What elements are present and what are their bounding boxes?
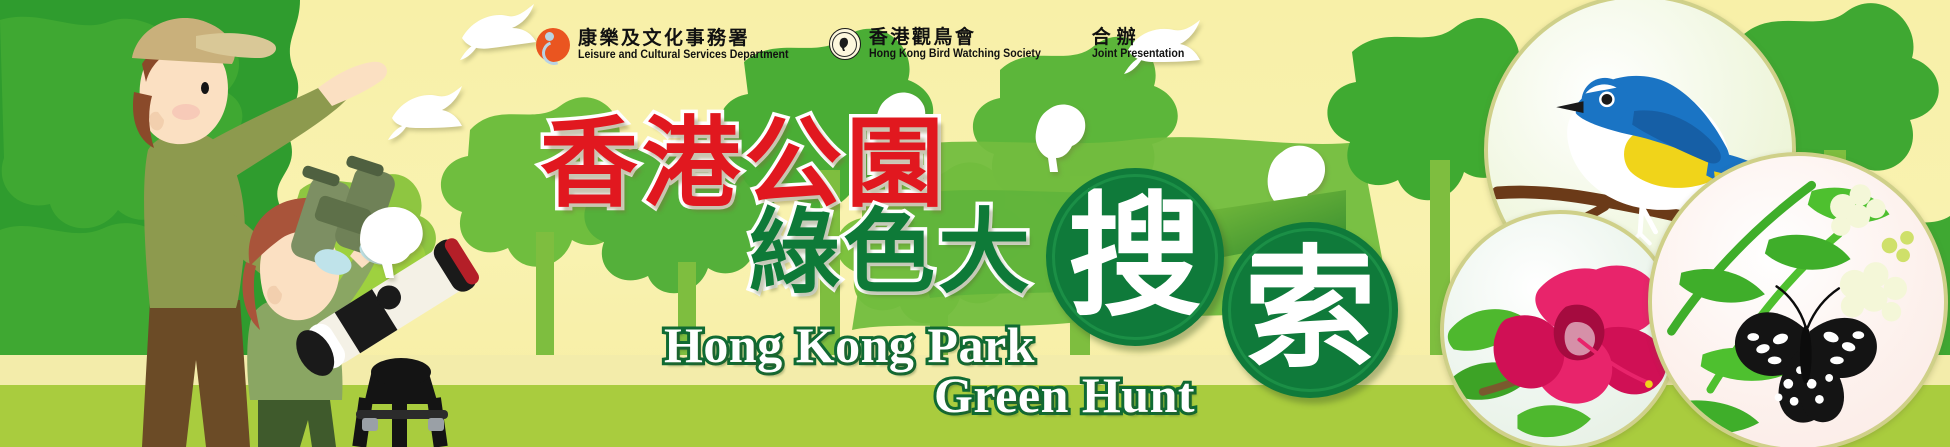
title-chinese-green: 綠色大 bbox=[748, 178, 1033, 311]
lcsd-logo-icon bbox=[536, 28, 570, 62]
white-bird-silhouette bbox=[386, 84, 464, 142]
white-bird-silhouette bbox=[1030, 96, 1092, 174]
hkbws-logo-icon bbox=[829, 28, 861, 60]
magnifier-lens-sou: 搜 bbox=[1046, 168, 1224, 346]
lcsd-logo: 康樂及文化事務署 Leisure and Cultural Services D… bbox=[536, 28, 807, 62]
joint-cn: 合辦 bbox=[1092, 28, 1192, 47]
hkbws-logo: 香港觀鳥會 Hong Kong Bird Watching Society bbox=[829, 28, 1056, 61]
title-english-line2: Green Hunt bbox=[934, 366, 1195, 424]
hkbws-name-en: Hong Kong Bird Watching Society bbox=[869, 49, 1041, 61]
organisation-logos: 康樂及文化事務署 Leisure and Cultural Services D… bbox=[536, 28, 1192, 62]
birdwatchers-illustration bbox=[0, 0, 520, 447]
magnifier-lens-suo: 索 bbox=[1222, 222, 1398, 398]
photo-butterfly bbox=[1648, 152, 1948, 447]
white-bird-silhouette bbox=[452, 2, 538, 64]
white-bird-silhouette bbox=[348, 198, 436, 280]
joint-presentation-label: 合辦 Joint Presentation bbox=[1078, 28, 1192, 61]
lcsd-name-cn: 康樂及文化事務署 bbox=[578, 29, 807, 48]
photo-flower bbox=[1440, 210, 1680, 447]
hong-kong-park-green-hunt-banner: 康樂及文化事務署 Leisure and Cultural Services D… bbox=[0, 0, 1950, 447]
hkbws-name-cn: 香港觀鳥會 bbox=[869, 28, 1056, 47]
joint-en: Joint Presentation bbox=[1092, 49, 1184, 61]
lcsd-name-en: Leisure and Cultural Services Department bbox=[578, 50, 789, 62]
